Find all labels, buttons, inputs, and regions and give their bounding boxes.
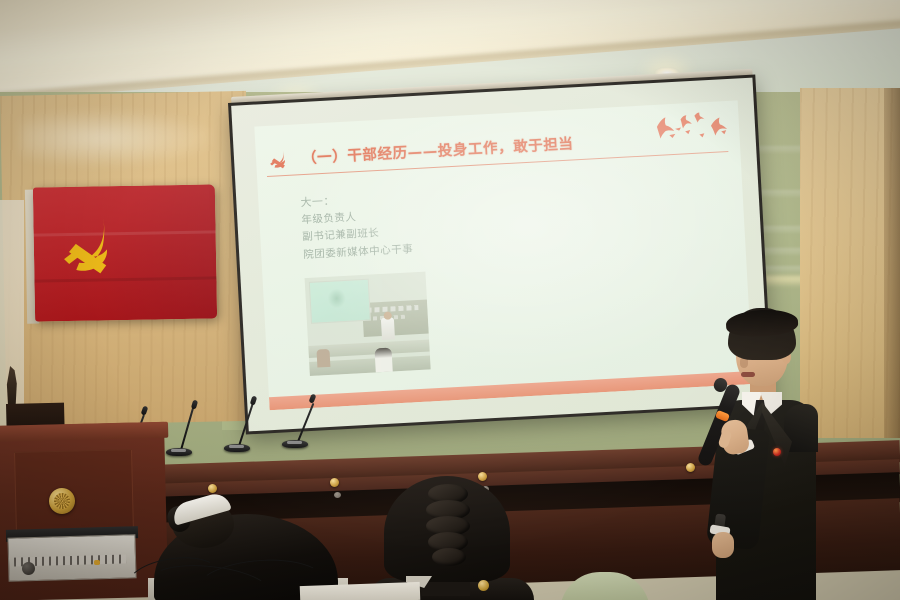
mic-base bbox=[166, 448, 192, 456]
photo-audience bbox=[316, 349, 330, 368]
av-unit-knob[interactable] bbox=[22, 562, 35, 575]
photo-audience bbox=[374, 348, 392, 373]
braid-segment bbox=[432, 548, 466, 566]
projector-screen: （一）干部经历——投身工作，敢于担当 bbox=[228, 74, 773, 434]
presenter bbox=[696, 308, 826, 600]
audience-member-braid bbox=[362, 466, 534, 600]
table-knob bbox=[330, 478, 339, 487]
right-wall-edge-shadow bbox=[884, 88, 900, 438]
av-unit-led bbox=[94, 560, 100, 565]
projector-screen-surface: （一）干部经历——投身工作，敢于担当 bbox=[231, 78, 770, 432]
presenter-party-pin bbox=[773, 448, 781, 456]
wood-panel-sheen bbox=[20, 108, 220, 168]
presenter-hand bbox=[712, 532, 734, 558]
slide-body-text: 大一： 年级负责人 副书记兼副班长 院团委新媒体中心干事 bbox=[300, 180, 563, 264]
presenter-mouth bbox=[741, 372, 755, 377]
flying-birds-icon bbox=[650, 111, 734, 145]
audience-hair-pin bbox=[478, 580, 489, 591]
slide-bottom-band bbox=[269, 371, 753, 410]
photo-projector-content bbox=[327, 288, 346, 309]
presentation-scene-photo: （一）干部经历——投身工作，敢于担当 bbox=[0, 0, 900, 600]
party-emblem-icon bbox=[265, 146, 291, 170]
mic-base bbox=[224, 444, 250, 452]
hammer-and-sickle-icon bbox=[57, 212, 120, 279]
presentation-slide: （一）干部经历——投身工作，敢于担当 bbox=[254, 100, 753, 410]
slide-embedded-photo bbox=[305, 272, 431, 376]
table-knob bbox=[208, 484, 217, 493]
party-flag bbox=[33, 184, 217, 323]
table-knob bbox=[686, 463, 695, 472]
photo-speaker bbox=[381, 317, 395, 340]
mic-base bbox=[282, 440, 308, 448]
